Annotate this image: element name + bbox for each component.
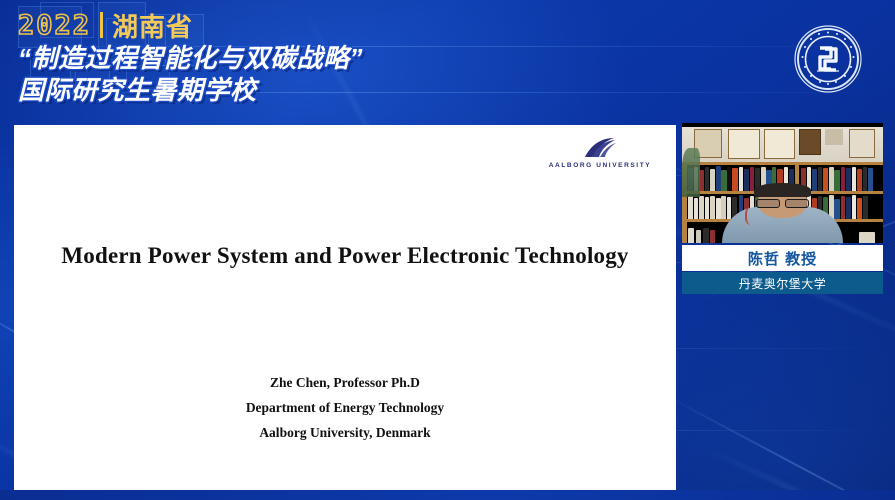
speaker-glasses-icon (756, 199, 809, 206)
speaker-hair (754, 183, 811, 197)
slide-title: Modern Power System and Power Electronic… (14, 243, 676, 269)
event-title-line-2: “制造过程智能化与双碳战略” (18, 43, 488, 73)
video-scene (682, 127, 883, 243)
event-title-header: 2022 湖南省 “制造过程智能化与双碳战略” 国际研究生暑期学校 (18, 8, 488, 105)
video-speaker-person (738, 183, 826, 243)
slide-author-block: Zhe Chen, Professor Ph.D Department of E… (14, 370, 676, 445)
presentation-slide[interactable]: AALBORG UNIVERSITY Modern Power System a… (14, 125, 676, 490)
presentation-screen: 2022 湖南省 “制造过程智能化与双碳战略” 国际研究生暑期学校 (0, 0, 895, 500)
event-province: 湖南省 (112, 7, 193, 44)
event-title-line-3: 国际研究生暑期学校 (18, 75, 488, 105)
central-south-university-seal-icon (793, 24, 863, 94)
title-divider-bar (100, 12, 103, 38)
aalborg-university-logo: AALBORG UNIVERSITY (546, 137, 654, 169)
video-plant (682, 148, 700, 197)
author-line-name: Zhe Chen, Professor Ph.D (14, 370, 676, 395)
author-line-affiliation: Aalborg University, Denmark (14, 420, 676, 445)
event-year: 2022 (18, 10, 91, 41)
speaker-headset-mic-icon (745, 207, 759, 225)
speaker-organization-plate: 丹麦奥尔堡大学 (682, 272, 883, 294)
bottom-strip (0, 490, 895, 500)
aalborg-university-swoosh-icon (583, 137, 617, 159)
speaker-video-feed[interactable] (682, 123, 883, 243)
speaker-name-plate: 陈哲 教授 (682, 245, 883, 271)
author-line-department: Department of Energy Technology (14, 395, 676, 420)
aalborg-university-name: AALBORG UNIVERSITY (546, 162, 654, 169)
video-wall-frames (682, 129, 883, 159)
